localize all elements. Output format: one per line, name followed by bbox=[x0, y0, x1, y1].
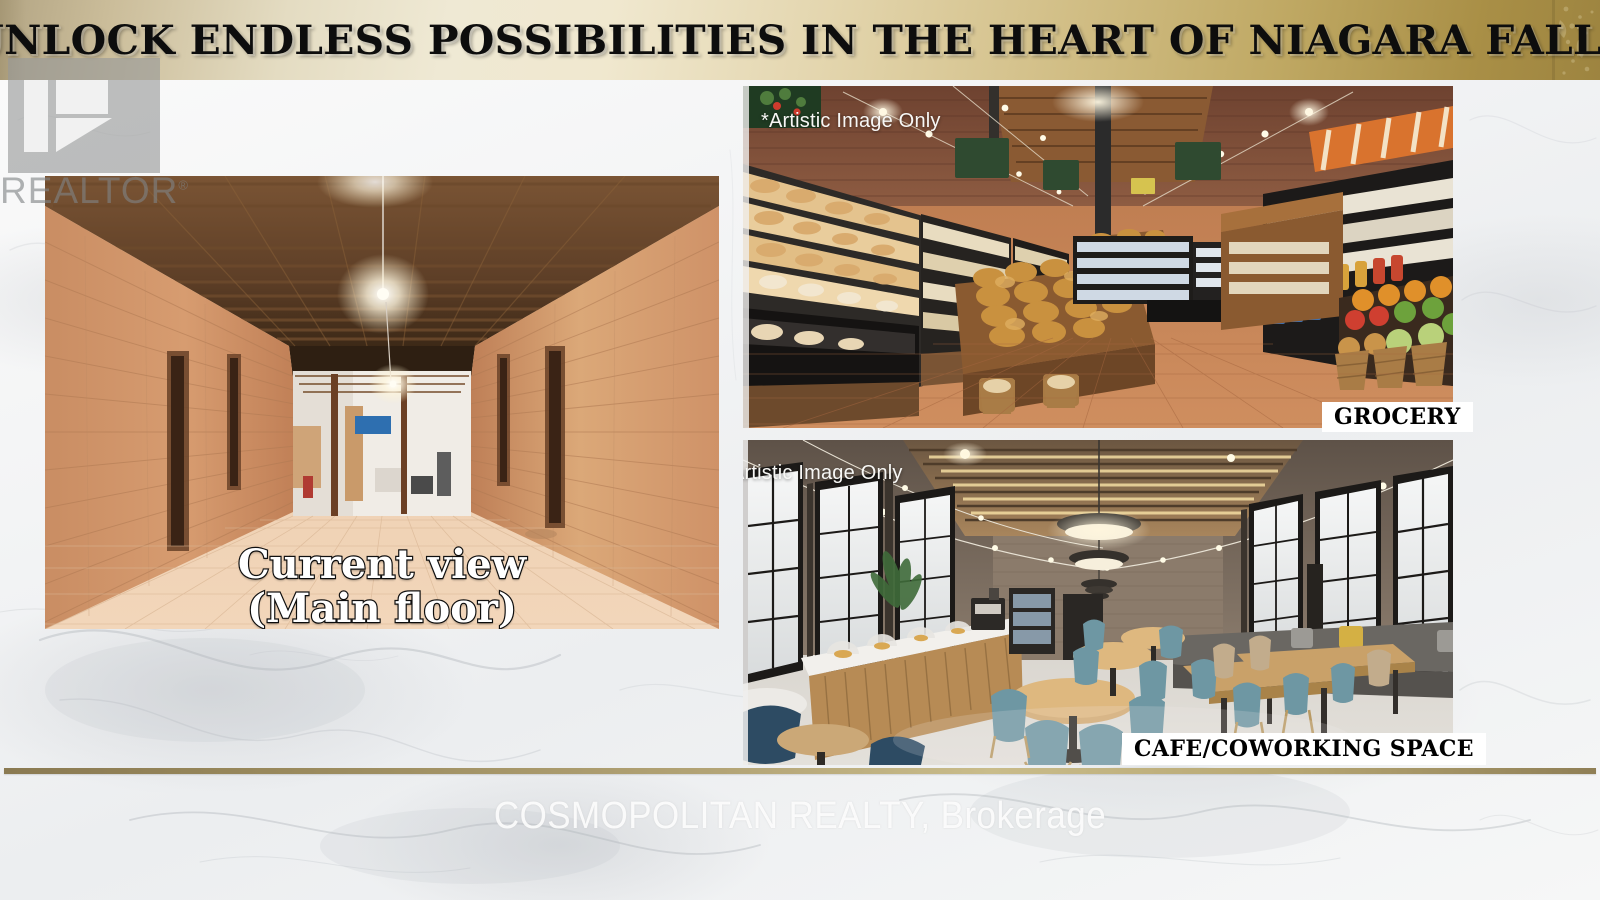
grocery-disclaimer: *Artistic Image Only bbox=[761, 110, 941, 133]
cafe-disclaimer: Artistic Image Only bbox=[743, 462, 903, 485]
slide-canvas: UNLOCK ENDLESS POSSIBILITIES IN THE HEAR… bbox=[0, 0, 1600, 900]
grocery-illustration bbox=[743, 86, 1453, 428]
header-banner: UNLOCK ENDLESS POSSIBILITIES IN THE HEAR… bbox=[0, 0, 1600, 80]
caption-current-view: Current view (Main floor) bbox=[45, 543, 719, 629]
label-grocery: GROCERY bbox=[1322, 402, 1473, 432]
photo-cafe-coworking-concept[interactable]: Artistic Image Only bbox=[743, 440, 1453, 765]
photo-main-floor[interactable]: Current view (Main floor) bbox=[45, 176, 719, 629]
label-cafe-coworking: CAFE/COWORKING SPACE bbox=[1122, 733, 1486, 765]
page-title: UNLOCK ENDLESS POSSIBILITIES IN THE HEAR… bbox=[0, 0, 1600, 80]
footer-gold-divider bbox=[4, 768, 1596, 774]
photo-grocery-concept[interactable]: *Artistic Image Only bbox=[743, 86, 1453, 428]
caption-line-2: (Main floor) bbox=[45, 587, 719, 629]
footer-brokerage-name: COSMOPOLITAN REALTY, Brokerage bbox=[64, 795, 1536, 838]
caption-line-1: Current view bbox=[45, 543, 719, 587]
cafe-illustration bbox=[743, 440, 1453, 765]
